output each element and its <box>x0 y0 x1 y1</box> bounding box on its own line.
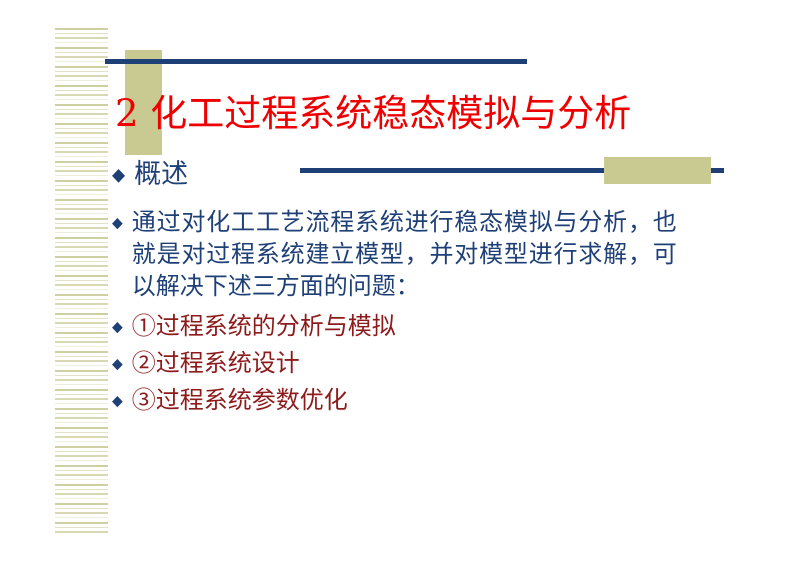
decorative-stripe-panel <box>55 28 108 536</box>
diamond-bullet-icon: ◆ <box>112 309 123 334</box>
bullet-item-3: ◆ ③过程系统参数优化 <box>112 384 752 416</box>
slide-body: ◆ 概述 ◆ 通过对化工工艺流程系统进行稳态模拟与分析，也就是对过程系统建立模型… <box>112 158 752 421</box>
bullet-item-2-text: ②过程系统设计 <box>132 347 752 379</box>
bullet-overview: ◆ 概述 <box>112 158 752 192</box>
bullet-item-3-text: ③过程系统参数优化 <box>132 384 752 416</box>
bullet-item-2: ◆ ②过程系统设计 <box>112 347 752 379</box>
diamond-bullet-icon: ◆ <box>112 383 123 408</box>
bullet-paragraph-text: 通过对化工工艺流程系统进行稳态模拟与分析，也就是对过程系统建立模型，并对模型进行… <box>132 206 677 302</box>
bullet-item-1: ◆ ①过程系统的分析与模拟 <box>112 310 752 342</box>
bullet-item-1-text: ①过程系统的分析与模拟 <box>132 310 752 342</box>
bullet-paragraph: ◆ 通过对化工工艺流程系统进行稳态模拟与分析，也就是对过程系统建立模型，并对模型… <box>112 206 752 302</box>
slide-title: 2 化工过程系统稳态模拟与分析 <box>115 92 735 136</box>
navy-rule-top <box>105 59 527 64</box>
diamond-bullet-icon: ◆ <box>112 346 123 371</box>
diamond-bullet-icon: ◆ <box>112 205 123 230</box>
diamond-bullet-icon: ◆ <box>112 157 125 184</box>
presentation-slide: 2 化工过程系统稳态模拟与分析 ◆ 概述 ◆ 通过对化工工艺流程系统进行稳态模拟… <box>0 0 800 565</box>
bullet-overview-label: 概述 <box>134 158 752 192</box>
